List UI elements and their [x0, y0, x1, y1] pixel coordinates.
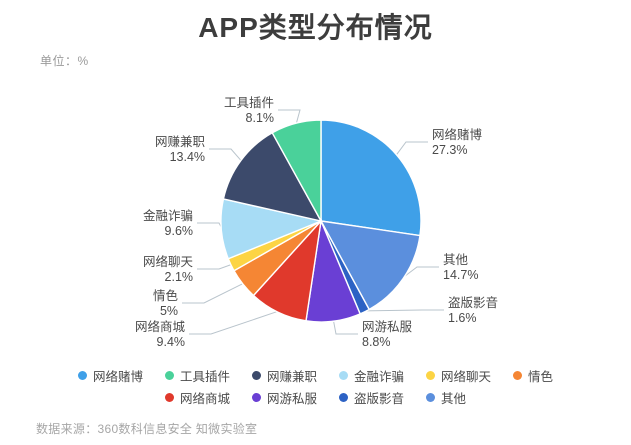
leader-line-gongjuchajian [278, 110, 300, 124]
leader-line-qingse [182, 283, 244, 303]
legend-item-金融诈骗[interactable]: 金融诈骗 [339, 366, 404, 385]
legend-row: 网络赌博工具插件网赚兼职金融诈骗网络聊天情色 [0, 364, 631, 386]
leader-line-wangluoshangcheng [189, 311, 278, 334]
pie-slice[interactable] [321, 120, 421, 236]
legend-item-label: 金融诈骗 [354, 366, 404, 385]
slice-label-gongjuchajian: 工具插件8.1% [224, 96, 274, 126]
legend-swatch-icon [426, 393, 435, 402]
slice-label-name: 网络赌博 [432, 128, 482, 142]
slice-label-value: 5% [153, 304, 178, 319]
slice-label-name: 盗版影音 [448, 296, 498, 310]
legend-swatch-icon [165, 393, 174, 402]
legend-swatch-icon [513, 371, 522, 380]
leader-line-wangluodubo [396, 142, 428, 156]
leader-line-wangluoliaotian [197, 264, 232, 269]
legend-item-情色[interactable]: 情色 [513, 366, 553, 385]
pie-slices-group [221, 120, 421, 322]
legend-item-网赚兼职[interactable]: 网赚兼职 [252, 366, 317, 385]
legend-item-其他[interactable]: 其他 [426, 388, 466, 407]
legend-item-label: 网络商城 [180, 388, 230, 407]
leader-line-wangyousifu [333, 320, 358, 334]
legend-item-label: 工具插件 [180, 366, 230, 385]
slice-label-value: 2.1% [143, 270, 193, 285]
slice-label-wangluodubo: 网络赌博27.3% [432, 128, 482, 158]
slice-label-name: 其他 [443, 253, 468, 267]
legend-swatch-icon [339, 393, 348, 402]
leader-line-wangzhuanjianzhi [209, 149, 242, 161]
legend-swatch-icon [339, 371, 348, 380]
legend-swatch-icon [78, 371, 87, 380]
slice-label-value: 13.4% [155, 150, 205, 165]
legend-swatch-icon [252, 371, 261, 380]
legend-item-label: 网络赌博 [93, 366, 143, 385]
slice-label-name: 网络商城 [135, 320, 185, 334]
legend-item-label: 其他 [441, 388, 466, 407]
legend-item-label: 盗版影音 [354, 388, 404, 407]
slice-label-name: 金融诈骗 [143, 209, 193, 223]
slice-label-value: 9.6% [143, 224, 193, 239]
source-label: 数据来源：360数科信息安全 知微实验室 [36, 420, 257, 437]
slice-label-value: 8.1% [224, 111, 274, 126]
legend-item-label: 网络聊天 [441, 366, 491, 385]
slice-label-name: 网游私服 [362, 320, 412, 334]
leader-line-jinrongzhapian [197, 223, 222, 229]
legend-item-网游私服[interactable]: 网游私服 [252, 388, 317, 407]
slice-label-value: 9.4% [135, 335, 185, 350]
slice-label-value: 8.8% [362, 335, 412, 350]
legend-swatch-icon [252, 393, 261, 402]
slice-label-wangyousifu: 网游私服8.8% [362, 320, 412, 350]
legend-item-网络聊天[interactable]: 网络聊天 [426, 366, 491, 385]
pie-chart-infographic: APP类型分布情况 单位：% 网络赌博27.3%其他14.7%盗版影音1.6%网… [0, 0, 631, 445]
slice-label-value: 27.3% [432, 143, 482, 158]
slice-label-wangluoshangcheng: 网络商城9.4% [135, 320, 185, 350]
slice-label-value: 14.7% [443, 268, 478, 283]
slice-label-name: 网赚兼职 [155, 135, 205, 149]
slice-label-qita: 其他14.7% [443, 253, 478, 283]
slice-label-name: 网络聊天 [143, 255, 193, 269]
slice-label-wangluoliaotian: 网络聊天2.1% [143, 255, 193, 285]
slice-label-name: 情色 [153, 289, 178, 303]
slice-label-value: 1.6% [448, 311, 498, 326]
slice-label-name: 工具插件 [224, 96, 274, 110]
slice-label-jinrongzhapian: 金融诈骗9.6% [143, 209, 193, 239]
leader-line-daobanyingyin [364, 310, 444, 311]
legend-item-盗版影音[interactable]: 盗版影音 [339, 388, 404, 407]
slice-label-wangzhuanjianzhi: 网赚兼职13.4% [155, 135, 205, 165]
legend-item-工具插件[interactable]: 工具插件 [165, 366, 230, 385]
legend-swatch-icon [426, 371, 435, 380]
legend-item-label: 网游私服 [267, 388, 317, 407]
legend-item-网络商城[interactable]: 网络商城 [165, 388, 230, 407]
legend-item-网络赌博[interactable]: 网络赌博 [78, 366, 143, 385]
legend-swatch-icon [165, 371, 174, 380]
slice-label-qingse: 情色5% [153, 289, 178, 319]
slice-label-daobanyingyin: 盗版影音1.6% [448, 296, 498, 326]
legend: 网络赌博工具插件网赚兼职金融诈骗网络聊天情色网络商城网游私服盗版影音其他 [0, 364, 631, 408]
legend-row: 网络商城网游私服盗版影音其他 [0, 386, 631, 408]
legend-item-label: 网赚兼职 [267, 366, 317, 385]
legend-item-label: 情色 [528, 366, 553, 385]
